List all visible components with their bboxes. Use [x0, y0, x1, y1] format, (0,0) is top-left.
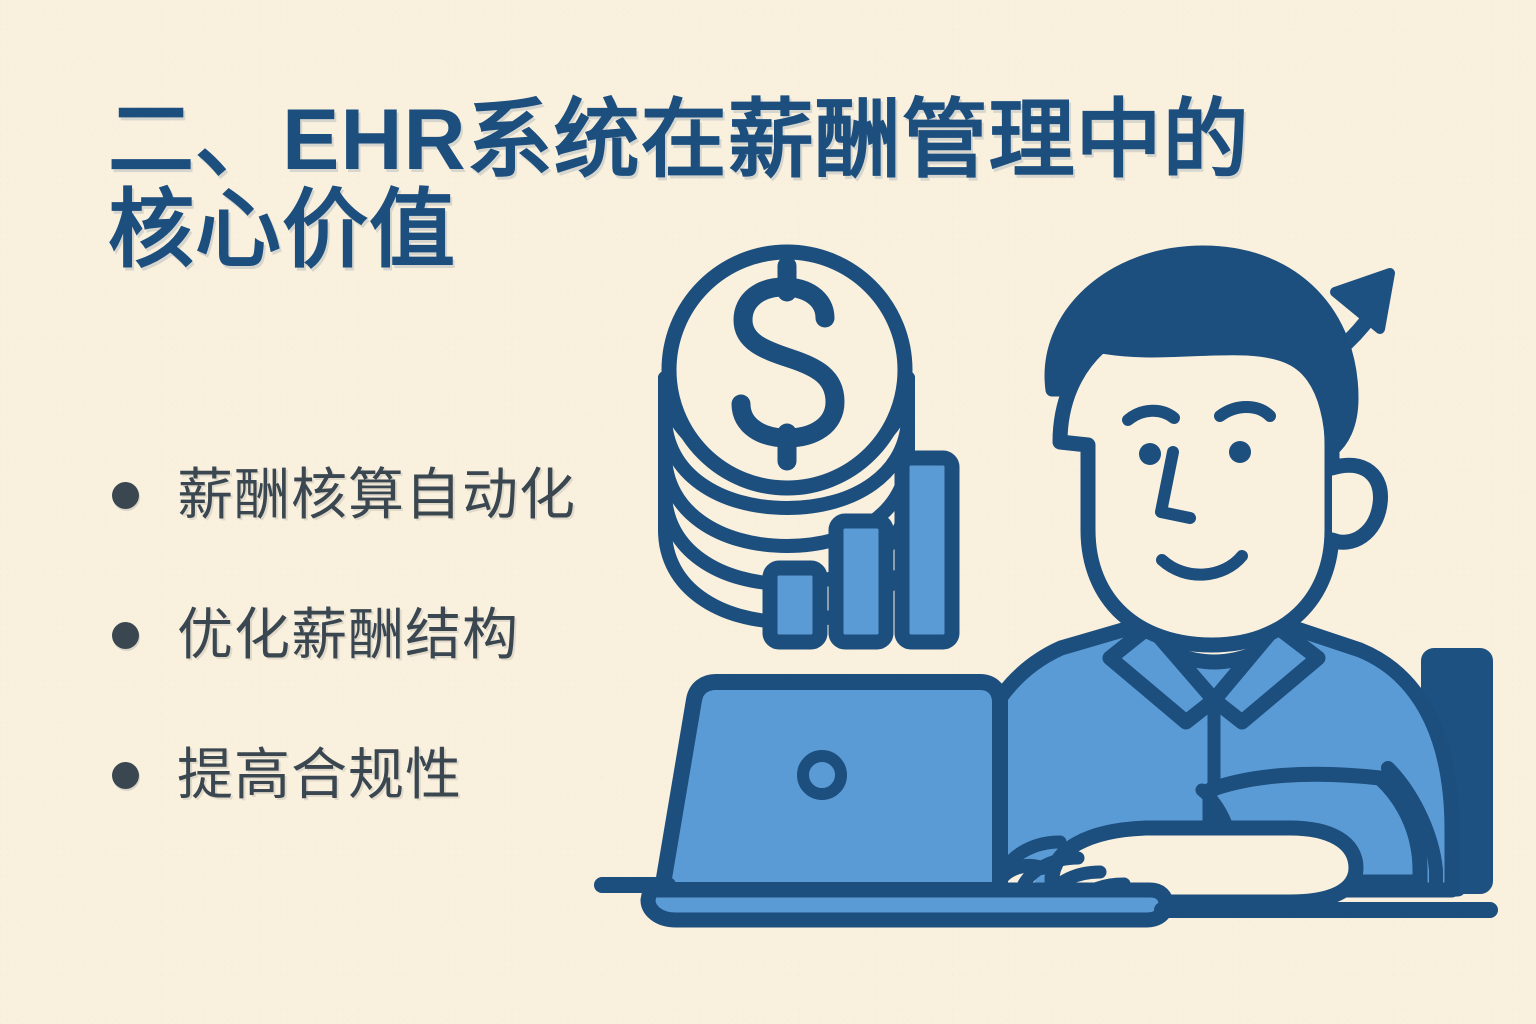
title-line-1: 二、EHR系统在薪酬管理中的	[108, 95, 1288, 185]
list-item: 提高合规性	[112, 705, 672, 845]
bullet-dot-icon	[112, 622, 139, 649]
bullet-label-3: 提高合规性	[177, 745, 462, 805]
slide-canvas: 二、EHR系统在薪酬管理中的 核心价值 薪酬核算自动化 优化薪酬结构 提高合规性	[0, 0, 1536, 1024]
bullet-dot-icon	[112, 482, 139, 509]
bullet-dot-icon	[112, 762, 139, 789]
list-item: 优化薪酬结构	[112, 565, 672, 705]
list-item: 薪酬核算自动化	[112, 425, 672, 565]
bullet-label-2: 优化薪酬结构	[177, 605, 519, 665]
bullet-label-1: 薪酬核算自动化	[177, 465, 576, 525]
illustration-person-at-laptop	[590, 230, 1536, 930]
bullet-list: 薪酬核算自动化 优化薪酬结构 提高合规性	[112, 425, 672, 845]
person-at-laptop-icon	[963, 252, 1452, 908]
